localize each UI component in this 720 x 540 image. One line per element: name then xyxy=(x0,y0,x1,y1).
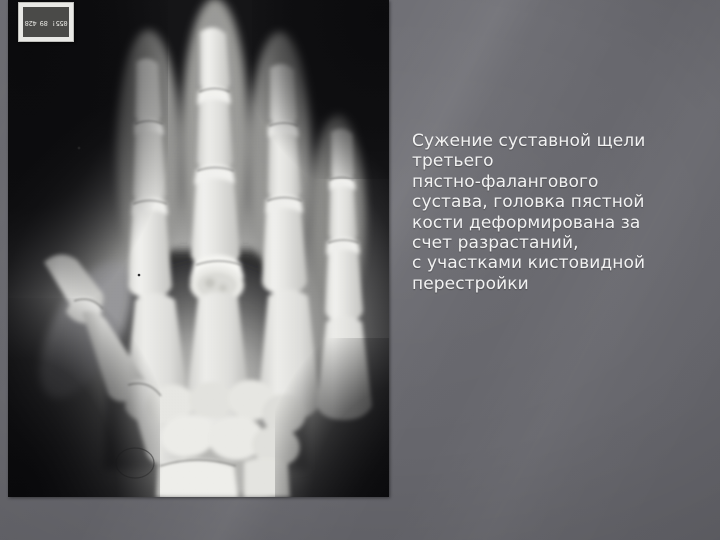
caption-line-8: перестройки xyxy=(412,274,680,294)
caption-line-5: кости деформирована за xyxy=(412,213,680,233)
hand-skeleton-graphic xyxy=(8,0,389,497)
caption-line-6: счет разрастаний, xyxy=(412,233,680,253)
film-id-marker: 428 89 055! xyxy=(18,2,74,42)
film-marker-left-text: 428 xyxy=(25,19,37,26)
caption-text-block: Сужение суставной щели третьего пястно-ф… xyxy=(412,131,680,294)
caption-line-4: сустава, головка пястной xyxy=(412,192,680,212)
caption-line-1: Сужение суставной щели xyxy=(412,131,680,151)
film-marker-center-text: 89 xyxy=(40,19,48,26)
film-marker-right-text: 055! xyxy=(52,19,68,26)
caption-line-2: третьего xyxy=(412,151,680,171)
caption-line-7: с участками кистовидной xyxy=(412,253,680,273)
hand-radiograph-image[interactable]: 428 89 055! xyxy=(8,0,389,497)
caption-line-3: пястно-фалангового xyxy=(412,172,680,192)
slide-canvas: 428 89 055! Сужение суставной щели треть… xyxy=(0,0,720,540)
